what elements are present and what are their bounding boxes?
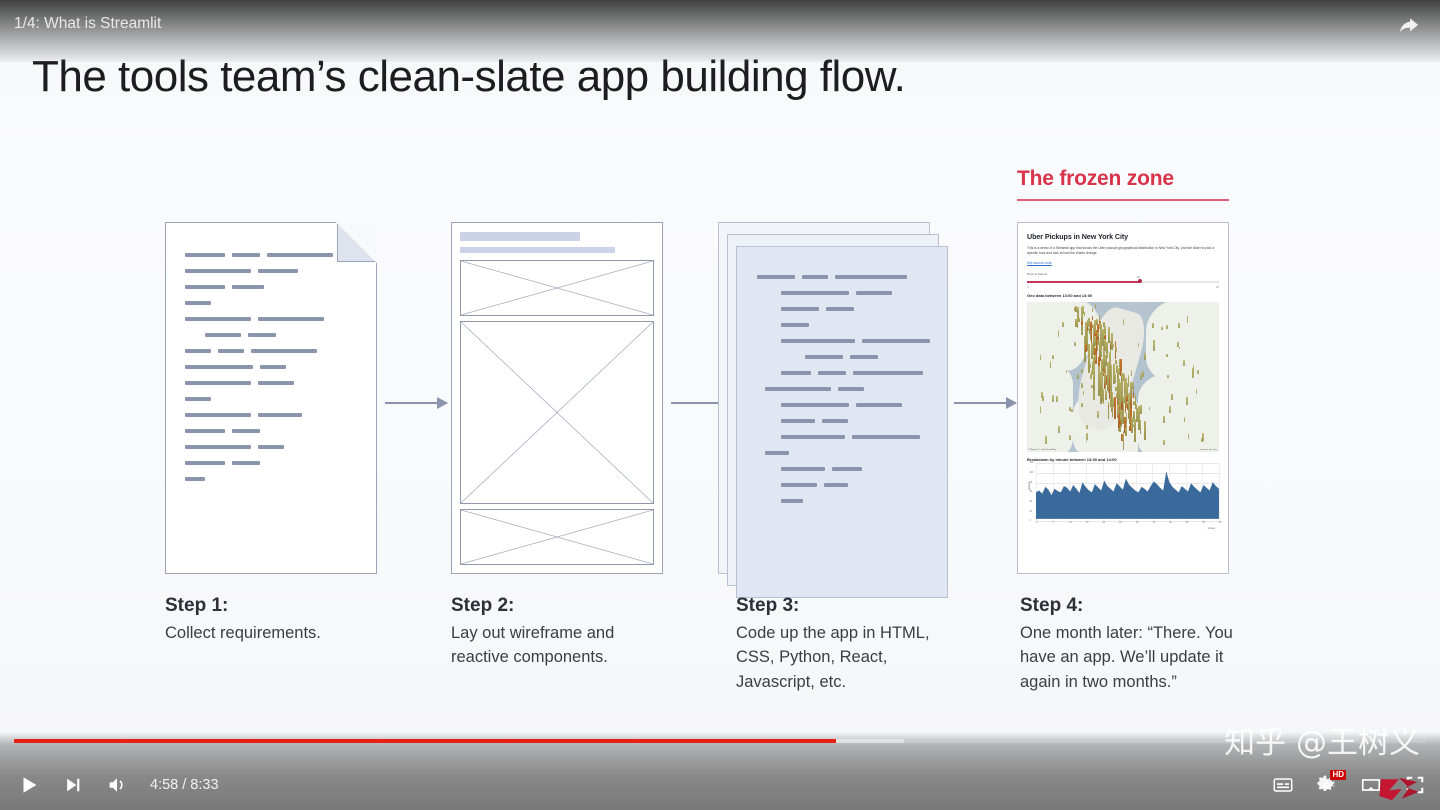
step-description: Collect requirements.	[165, 621, 380, 645]
player-controls-bar: 4:58 / 8:33 HD	[0, 732, 1440, 810]
slider-label: Hour to look at	[1027, 272, 1219, 276]
step-label: Step 3:	[736, 595, 951, 617]
play-icon[interactable]	[14, 770, 44, 800]
wireframe-block-middle	[460, 321, 654, 504]
next-video-icon[interactable]	[58, 770, 88, 800]
step-4-art: Uber Pickups in New York City This is a …	[1017, 222, 1229, 574]
hour-slider[interactable]: 13 0 23	[1027, 277, 1219, 288]
step-1-art	[165, 222, 377, 574]
code-page-stack	[712, 222, 944, 612]
chart-x-axis-label: minute	[1115, 527, 1229, 530]
see-source-code-link[interactable]: See source code	[1027, 261, 1219, 265]
map-landmass	[1027, 368, 1073, 452]
code-page-front	[736, 246, 948, 598]
map-landmass	[1027, 302, 1085, 371]
hd-badge: HD	[1330, 770, 1346, 780]
step-label: Step 1:	[165, 595, 380, 617]
wireframe-title-bar	[460, 232, 580, 241]
zhihu-logo-icon	[1378, 774, 1420, 804]
chart-y-axis-label: pickups	[1028, 482, 1031, 490]
progress-played	[14, 739, 836, 743]
step-1-caption: Step 1: Collect requirements.	[165, 595, 380, 645]
flow-arrow-3-4	[954, 402, 1016, 404]
step-description: One month later: “There. You have an app…	[1020, 621, 1235, 694]
chart-section-title: Breakdown by minute between 13:00 and 14…	[1027, 457, 1219, 462]
step-label: Step 2:	[451, 595, 666, 617]
progress-track[interactable]	[14, 739, 1426, 743]
code-placeholder-lines	[757, 275, 933, 515]
map-landmass	[1138, 374, 1219, 452]
share-icon[interactable]	[1396, 14, 1422, 40]
step-description: Code up the app in HTML, CSS, Python, Re…	[736, 621, 951, 694]
page-title: The tools team’s clean-slate app buildin…	[32, 52, 905, 102]
wireframe-mockup	[451, 222, 663, 574]
minute-breakdown-chart: Breakdown by minute between 13:00 and 14…	[1027, 457, 1219, 530]
app-title: Uber Pickups in New York City	[1027, 232, 1219, 241]
map-attribution: © Mapbox © OpenStreetMap	[1028, 449, 1056, 451]
frozen-zone-divider	[1017, 199, 1229, 201]
flow-arrow-1-2	[385, 402, 447, 404]
step-description: Lay out wireframe and reactive component…	[451, 621, 666, 670]
chart-plot-area: 020406080100120 pickups	[1036, 464, 1219, 522]
chapter-title: 1/4: What is Streamlit	[14, 15, 161, 33]
gear-icon[interactable]: HD	[1312, 770, 1342, 800]
slider-min-label: 0	[1027, 285, 1029, 289]
step-label: Step 4:	[1020, 595, 1235, 617]
app-description: This is a demo of a Streamlit app that s…	[1027, 246, 1219, 256]
streamlit-app-screenshot: Uber Pickups in New York City This is a …	[1017, 222, 1229, 574]
frozen-zone-banner: The frozen zone	[1017, 167, 1229, 201]
step-2-caption: Step 2: Lay out wireframe and reactive c…	[451, 595, 666, 670]
subtitles-icon[interactable]	[1268, 770, 1298, 800]
wireframe-block-bottom	[460, 509, 654, 565]
map-section-title: Geo data between 13:00 and 14:00	[1027, 293, 1219, 298]
requirements-document	[165, 222, 377, 574]
slider-max-label: 23	[1216, 285, 1219, 289]
map-landmass	[1146, 302, 1219, 382]
chart-area-series	[1036, 464, 1219, 519]
step-2-art	[451, 222, 663, 574]
document-placeholder-lines	[185, 253, 364, 493]
frozen-zone-label: The frozen zone	[1017, 167, 1229, 191]
wireframe-subtitle-bar	[460, 247, 615, 253]
map-improve-link[interactable]: Improve this map	[1200, 449, 1217, 451]
step-3-caption: Step 3: Code up the app in HTML, CSS, Py…	[736, 595, 951, 694]
step-3-art	[712, 222, 944, 612]
slider-fill	[1027, 281, 1140, 283]
slide-canvas: The tools team’s clean-slate app buildin…	[0, 0, 1440, 810]
time-display: 4:58 / 8:33	[150, 777, 219, 793]
wireframe-block-top	[460, 260, 654, 316]
left-controls: 4:58 / 8:33	[14, 770, 219, 800]
volume-icon[interactable]	[102, 770, 132, 800]
zhihu-watermark: 知乎 @王树义	[1224, 717, 1420, 762]
uber-pickup-3d-map[interactable]: © Mapbox © OpenStreetMap Improve this ma…	[1027, 302, 1219, 452]
step-4-caption: Step 4: One month later: “There. You hav…	[1020, 595, 1235, 694]
